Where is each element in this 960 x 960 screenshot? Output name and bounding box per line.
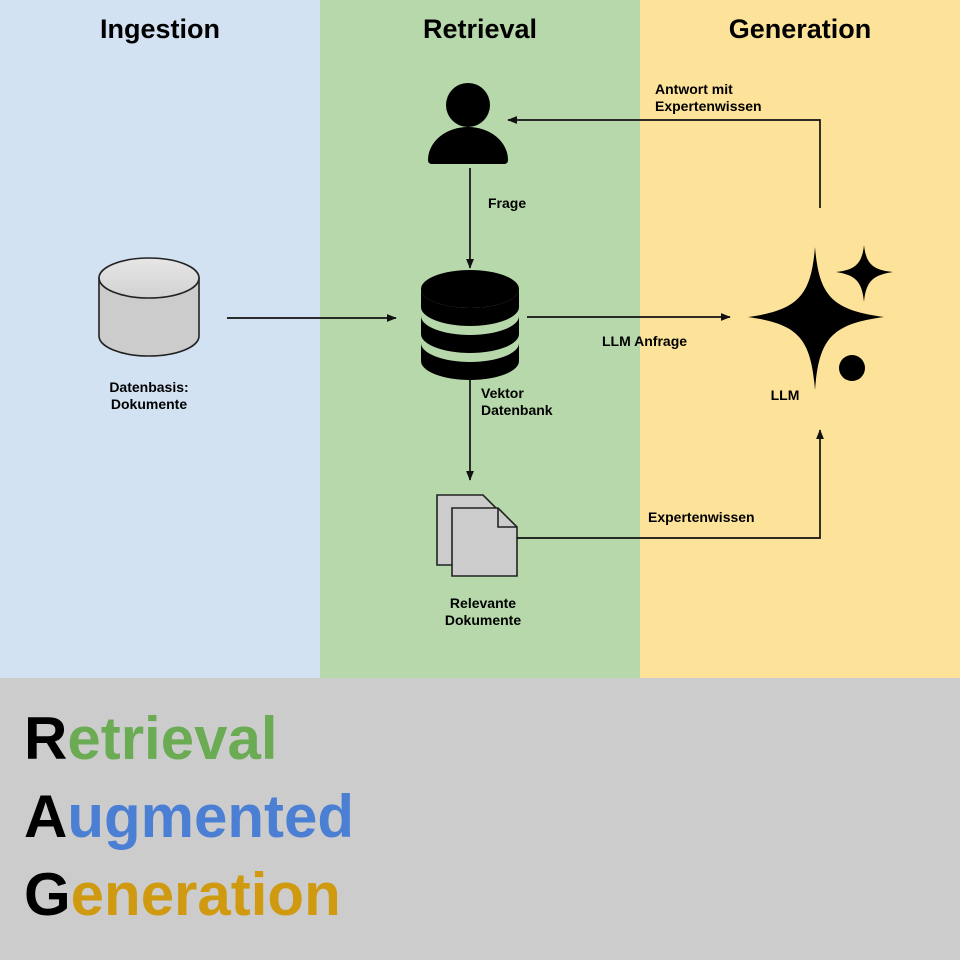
wordmark-line-augmented: Augmented <box>24 778 624 856</box>
column-ingestion <box>0 0 320 678</box>
column-title-retrieval: Retrieval <box>320 14 640 45</box>
label-frage: Frage <box>488 195 526 212</box>
wordmark-line-generation: Generation <box>24 856 624 934</box>
label-relevante-dokumente: Relevante Dokumente <box>383 595 583 629</box>
label-expertenwissen: Expertenwissen <box>648 509 755 526</box>
wordmark-rest-retrieval: etrieval <box>67 705 277 772</box>
wordmark-initial-a: A <box>24 783 67 850</box>
label-vektor-datenbank: Vektor Datenbank <box>481 385 553 419</box>
wordmark-initial-r: R <box>24 705 67 772</box>
wordmark-rest-generation: eneration <box>71 861 341 928</box>
label-datenbasis: Datenbasis: Dokumente <box>49 379 249 413</box>
column-retrieval <box>320 0 640 678</box>
column-title-ingestion: Ingestion <box>0 14 320 45</box>
wordmark-initial-g: G <box>24 861 71 928</box>
rag-wordmark: Retrieval Augmented Generation <box>24 700 624 934</box>
label-antwort-mit-expertenwissen: Antwort mit Expertenwissen <box>655 81 762 115</box>
label-llm: LLM <box>735 387 835 404</box>
label-llm-anfrage: LLM Anfrage <box>602 333 687 350</box>
wordmark-rest-augmented: ugmented <box>67 783 354 850</box>
wordmark-line-retrieval: Retrieval <box>24 700 624 778</box>
column-title-generation: Generation <box>640 14 960 45</box>
rag-diagram: Ingestion Retrieval Generation <box>0 0 960 960</box>
